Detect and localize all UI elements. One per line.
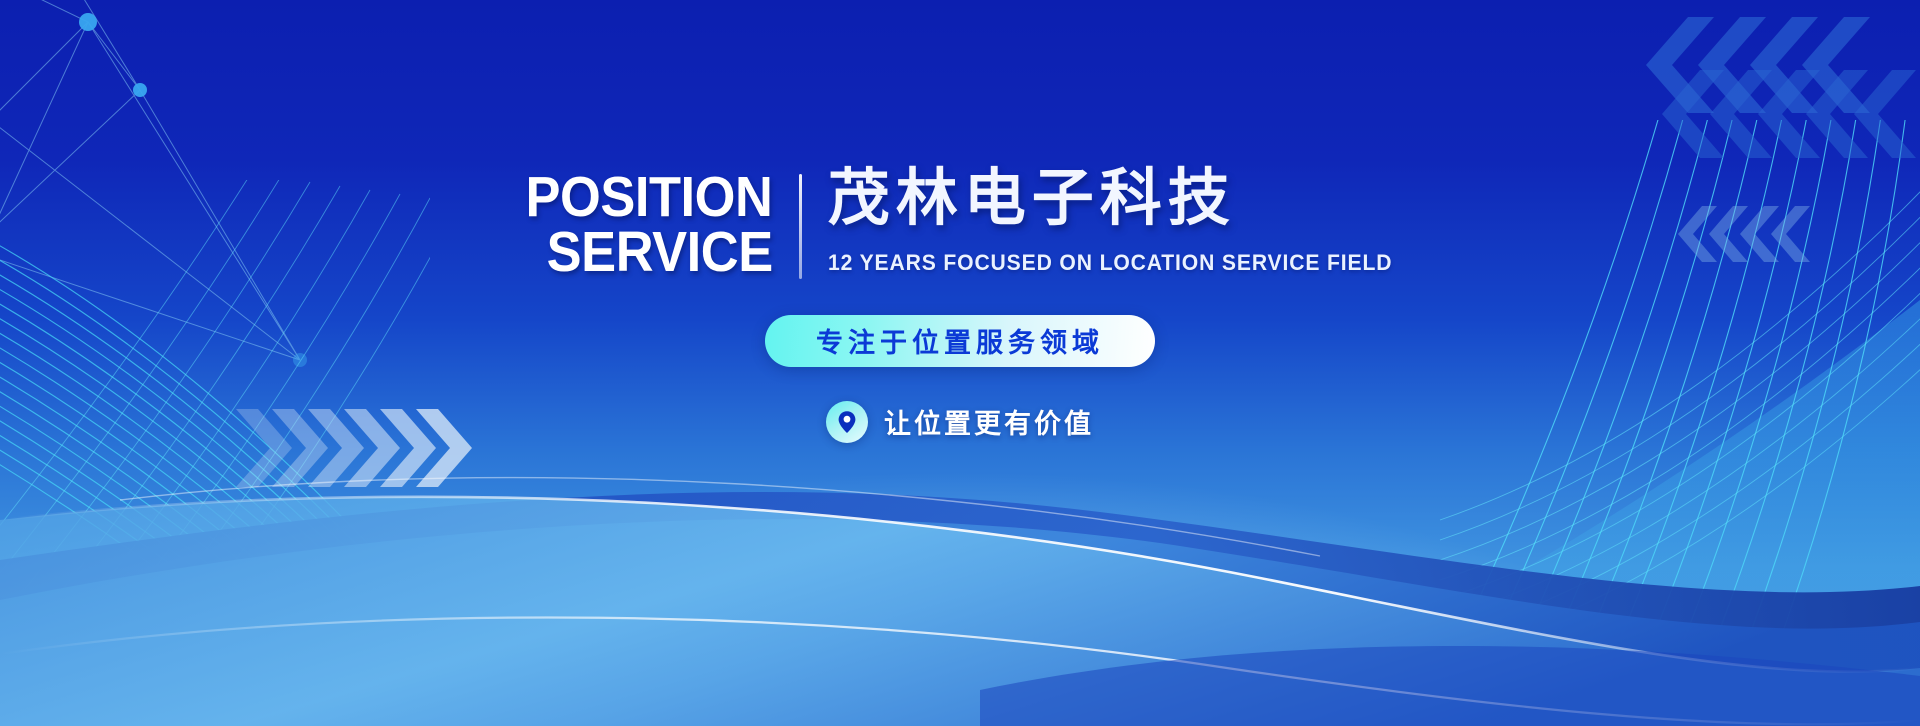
- english-lockup: POSITION SERVICE: [504, 168, 772, 279]
- hero-banner: POSITION SERVICE 茂林电子科技 12 YEARS FOCUSED…: [0, 0, 1920, 726]
- tagline-row: 让位置更有价值: [826, 401, 1094, 443]
- chevron-group-left: [236, 409, 472, 487]
- brand-block: 茂林电子科技 12 YEARS FOCUSED ON LOCATION SERV…: [828, 168, 1416, 276]
- tagline-text: 让位置更有价值: [884, 402, 1094, 441]
- focus-pill-badge: 专注于位置服务领域: [765, 315, 1155, 367]
- vertical-divider: [799, 174, 802, 279]
- english-subtitle: 12 YEARS FOCUSED ON LOCATION SERVICE FIE…: [828, 250, 1392, 276]
- title-row: POSITION SERVICE 茂林电子科技 12 YEARS FOCUSED…: [504, 168, 1415, 279]
- focus-pill-label: 专注于位置服务领域: [816, 321, 1104, 360]
- lockup-line-2: SERVICE: [547, 227, 773, 278]
- chevron-group-upper-right: [1662, 70, 1916, 158]
- chevron-group-right-small: [1678, 206, 1810, 262]
- company-name: 茂林电子科技: [828, 168, 1416, 230]
- location-pin-icon: [837, 410, 857, 434]
- network-constellation: [0, 0, 300, 360]
- location-pin-badge: [826, 401, 868, 443]
- lockup-line-1: POSITION: [526, 172, 773, 223]
